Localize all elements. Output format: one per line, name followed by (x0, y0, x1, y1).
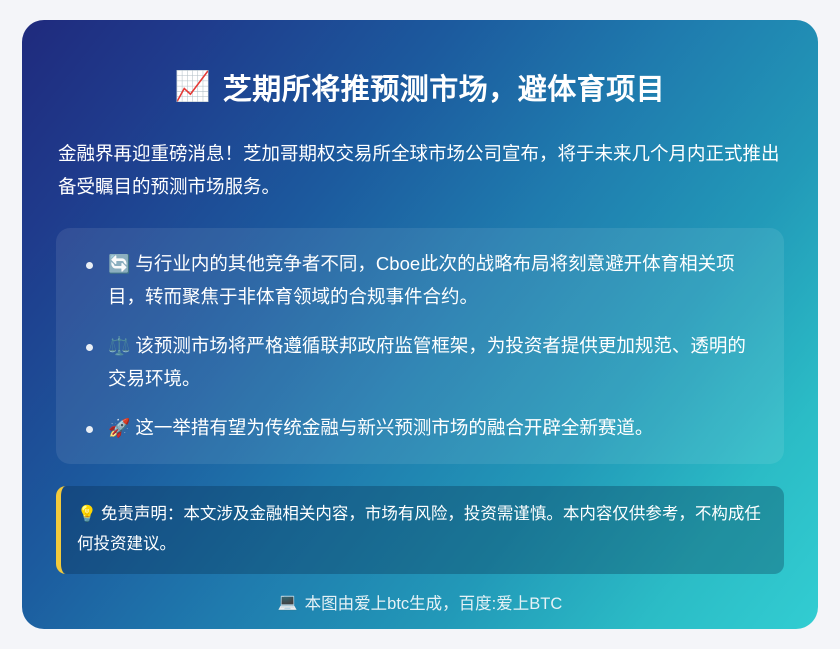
highlights-list: 🔄与行业内的其他竞争者不同，Cboe此次的战略布局将刻意避开体育相关项目，转而聚… (82, 248, 758, 445)
footer-credit-text: 本图由爱上btc生成，百度:爱上BTC (305, 590, 563, 614)
page-title-text: 芝期所将推预测市场，避体育项目 (223, 66, 666, 108)
list-item: 🔄与行业内的其他竞争者不同，Cboe此次的战略布局将刻意避开体育相关项目，转而聚… (82, 248, 758, 314)
laptop-icon: 💻 (278, 592, 298, 612)
page-title: 📈 芝期所将推预测市场，避体育项目 (56, 66, 784, 108)
chart-increasing-icon: 📈 (175, 73, 211, 102)
footer-credit: 💻 本图由爱上btc生成，百度:爱上BTC (56, 590, 784, 622)
disclaimer-text-row: 💡免责声明：本文涉及金融相关内容，市场有风险，投资需谨慎。本内容仅供参考，不构成… (77, 500, 764, 559)
intro-paragraph: 金融界再迎重磅消息！芝加哥期权交易所全球市场公司宣布，将于未来几个月内正式推出备… (58, 138, 782, 204)
list-item: ⚖️该预测市场将严格遵循联邦政府监管框架，为投资者提供更加规范、透明的交易环境。 (82, 330, 758, 396)
disclaimer-box: 💡免责声明：本文涉及金融相关内容，市场有风险，投资需谨慎。本内容仅供参考，不构成… (56, 486, 784, 573)
light-bulb-icon: 💡 (77, 501, 97, 530)
rocket-icon: 🚀 (108, 412, 130, 444)
list-item-text: 该预测市场将严格遵循联邦政府监管框架，为投资者提供更加规范、透明的交易环境。 (108, 335, 746, 389)
counterclockwise-arrows-icon: 🔄 (108, 248, 130, 280)
balance-scale-icon: ⚖️ (108, 330, 130, 362)
disclaimer-text: 免责声明：本文涉及金融相关内容，市场有风险，投资需谨慎。本内容仅供参考，不构成任… (77, 505, 761, 553)
list-item-text: 这一举措有望为传统金融与新兴预测市场的融合开辟全新赛道。 (135, 417, 653, 438)
list-item-text: 与行业内的其他竞争者不同，Cboe此次的战略布局将刻意避开体育相关项目，转而聚焦… (108, 253, 735, 307)
list-item: 🚀这一举措有望为传统金融与新兴预测市场的融合开辟全新赛道。 (82, 412, 758, 445)
highlights-panel: 🔄与行业内的其他竞争者不同，Cboe此次的战略布局将刻意避开体育相关项目，转而聚… (56, 228, 784, 465)
info-card: 📈 芝期所将推预测市场，避体育项目 金融界再迎重磅消息！芝加哥期权交易所全球市场… (22, 20, 818, 629)
